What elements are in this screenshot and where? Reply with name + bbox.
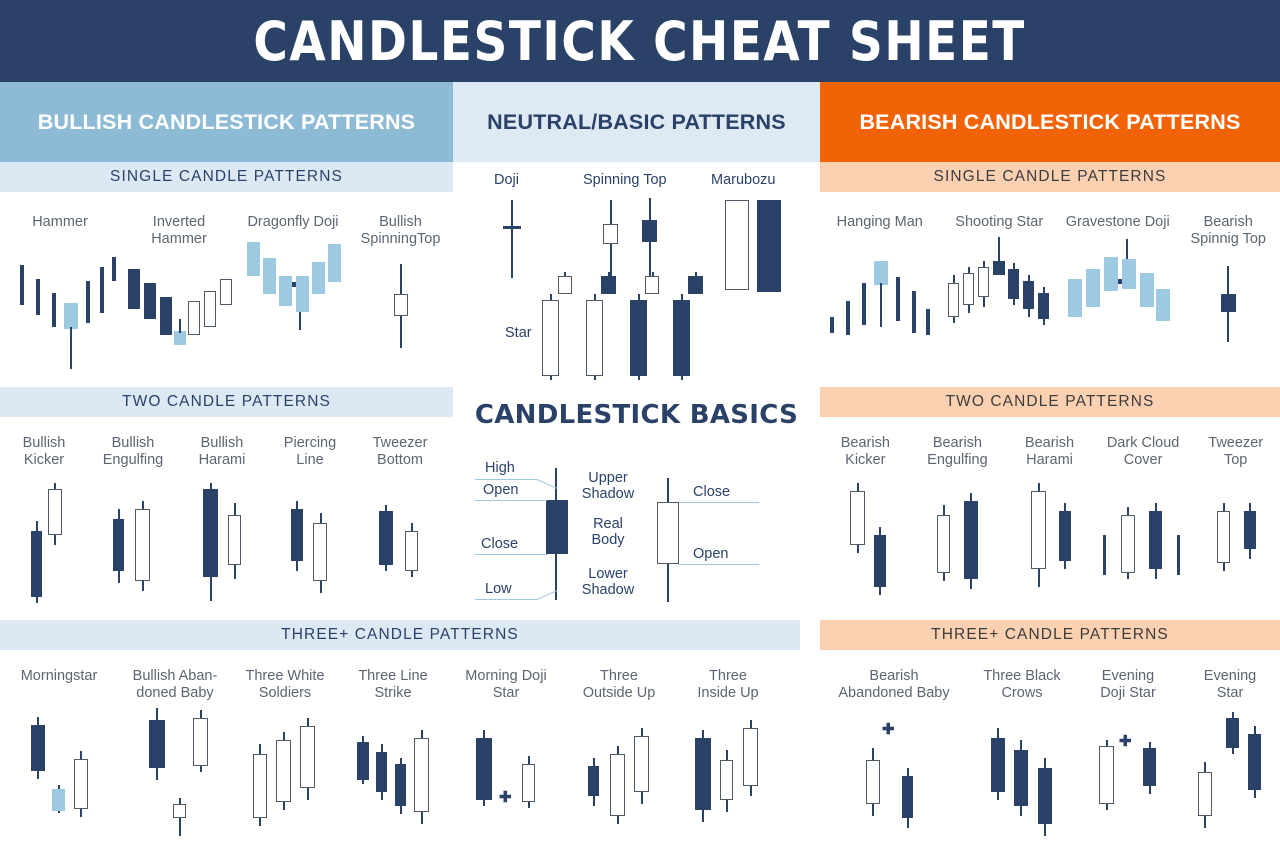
bearish-single-section-label: SINGLE CANDLE PATTERNS	[934, 168, 1167, 186]
pattern-morning-doji-star-chart: ✚	[467, 716, 545, 846]
pattern-three-white-soldiers[interactable]: Three White Soldiers	[232, 650, 338, 864]
pattern-bearish-spinning-top[interactable]: Bearish Spinnig Top	[1176, 192, 1280, 387]
bullish-single-section-label: SINGLE CANDLE PATTERNS	[110, 168, 343, 186]
pattern-morning-doji-star-label: Morning Doji Star	[465, 668, 546, 702]
pattern-gravestone-doji-chart	[1064, 235, 1172, 345]
basics-label-lower-shadow: Lower Shadow	[575, 566, 641, 598]
column-header-neutral-label: NEUTRAL/BASIC PATTERNS	[487, 110, 786, 135]
pattern-dragonfly-doji-label: Dragonfly Doji	[247, 214, 338, 231]
label-doji: Doji	[494, 172, 519, 188]
bearish-three-plus-section: THREE+ CANDLE PATTERNS Bearish Abandoned…	[820, 620, 1280, 864]
pattern-evening-doji-star-label: Evening Doji Star	[1100, 668, 1156, 702]
pattern-bullish-abandoned-baby-chart	[132, 702, 218, 842]
pattern-bearish-harami-label: Bearish Harami	[1025, 435, 1074, 469]
basics-label-low: Low	[485, 581, 512, 597]
bullish-two-section-bar: TWO CANDLE PATTERNS	[0, 387, 453, 417]
basics-label-right-open: Open	[693, 546, 728, 562]
pattern-tweezer-bottom-chart	[369, 493, 431, 613]
pattern-bearish-kicker-chart	[835, 479, 895, 619]
pattern-bullish-kicker[interactable]: Bullish Kicker	[0, 417, 88, 632]
pattern-shooting-star-chart	[944, 235, 1054, 345]
pattern-bearish-harami[interactable]: Bearish Harami	[1004, 417, 1095, 632]
pattern-three-outside-up-label: Three Outside Up	[583, 668, 656, 702]
candlestick-basics-diagram: High Open Close Low Upper Shadow Real Bo…	[453, 446, 820, 621]
pattern-tweezer-bottom[interactable]: Tweezer Bottom	[354, 417, 446, 632]
bullish-three-section-label: THREE+ CANDLE PATTERNS	[281, 626, 519, 644]
pattern-three-line-strike-chart	[351, 716, 435, 846]
pattern-three-line-strike-label: Three Line Strike	[358, 668, 427, 702]
pattern-three-line-strike[interactable]: Three Line Strike	[338, 650, 448, 864]
column-header-bullish-label: BULLISH CANDLESTICK PATTERNS	[38, 110, 415, 135]
pattern-bearish-abandoned-baby[interactable]: Bearish Abandoned Baby ✚	[820, 650, 968, 864]
guide-line-open	[475, 500, 547, 501]
pattern-morning-doji-star[interactable]: Morning Doji Star ✚	[448, 650, 564, 864]
pattern-bearish-kicker-label: Bearish Kicker	[841, 435, 890, 469]
pattern-hammer-label: Hammer	[32, 214, 88, 231]
pattern-tweezer-top-chart	[1207, 489, 1265, 609]
pattern-bearish-abandoned-baby-label: Bearish Abandoned Baby	[838, 668, 949, 702]
pattern-morningstar-chart	[16, 699, 102, 829]
title-bar: CANDLESTICK CHEAT SHEET	[0, 0, 1280, 82]
bearish-two-section-label: TWO CANDLE PATTERNS	[946, 393, 1155, 411]
evening-doji-plus-icon: ✚	[1119, 734, 1132, 749]
pattern-hammer-chart	[10, 253, 110, 373]
label-star: Star	[505, 325, 532, 341]
pattern-bullish-abandoned-baby-label: Bullish Aban- doned Baby	[133, 668, 218, 702]
bullish-three-plus-section: THREE+ CANDLE PATTERNS Morningstar Bulli…	[0, 620, 800, 864]
pattern-piercing-line-chart	[280, 489, 340, 619]
guide-line-high	[475, 479, 537, 480]
pattern-three-black-crows-label: Three Black Crows	[983, 668, 1060, 702]
pattern-dark-cloud-cover-chart	[1101, 489, 1185, 619]
pattern-bullish-spinning-top[interactable]: Bullish SpinningTop	[348, 192, 453, 387]
pattern-three-inside-up[interactable]: Three Inside Up	[674, 650, 782, 864]
guide-line-close	[475, 554, 547, 555]
pattern-bearish-spinning-top-label: Bearish Spinnig Top	[1190, 214, 1266, 248]
pattern-evening-doji-star-chart: ✚	[1089, 716, 1167, 846]
pattern-bullish-kicker-chart	[14, 479, 74, 619]
label-spinning-top: Spinning Top	[583, 172, 667, 188]
basics-label-right-close: Close	[693, 484, 730, 500]
column-header-bullish: BULLISH CANDLESTICK PATTERNS	[0, 82, 453, 162]
pattern-evening-star[interactable]: Evening Star	[1180, 650, 1280, 864]
neutral-basics-chart: Doji Spinning Top Marubozu Star	[453, 162, 820, 392]
pattern-three-outside-up[interactable]: Three Outside Up	[564, 650, 674, 864]
basics-label-upper-shadow: Upper Shadow	[575, 470, 641, 502]
pattern-bearish-kicker[interactable]: Bearish Kicker	[820, 417, 911, 632]
pattern-inverted-hammer-label: Inverted Hammer	[151, 214, 207, 248]
bullish-single-section-bar: SINGLE CANDLE PATTERNS	[0, 162, 453, 192]
page-title: CANDLESTICK CHEAT SHEET	[254, 9, 1026, 73]
bearish-two-section-bar: TWO CANDLE PATTERNS	[820, 387, 1280, 417]
basics-label-high: High	[485, 460, 515, 476]
pattern-gravestone-doji[interactable]: Gravestone Doji	[1059, 192, 1176, 387]
pattern-morningstar-label: Morningstar	[21, 668, 98, 685]
pattern-three-white-soldiers-label: Three White Soldiers	[246, 668, 325, 702]
pattern-hanging-man-chart	[826, 255, 934, 365]
pattern-tweezer-top-label: Tweezer Top	[1208, 435, 1263, 469]
pattern-hanging-man[interactable]: Hanging Man	[820, 192, 939, 387]
pattern-bullish-harami[interactable]: Bullish Harami	[178, 417, 266, 632]
guide-line-right-close	[679, 502, 759, 503]
pattern-gravestone-doji-label: Gravestone Doji	[1066, 214, 1170, 231]
column-header-bearish: BEARISH CANDLESTICK PATTERNS	[820, 82, 1280, 162]
pattern-bearish-harami-chart	[1020, 477, 1080, 617]
bearish-three-section-label: THREE+ CANDLE PATTERNS	[931, 626, 1169, 644]
pattern-bearish-engulfing-chart	[926, 487, 988, 617]
doji-plus-icon: ✚	[499, 790, 512, 805]
pattern-shooting-star[interactable]: Shooting Star	[939, 192, 1058, 387]
pattern-evening-star-label: Evening Star	[1204, 668, 1256, 702]
column-header-bearish-label: BEARISH CANDLESTICK PATTERNS	[859, 110, 1240, 135]
pattern-three-white-soldiers-chart	[245, 716, 325, 846]
pattern-bullish-harami-label: Bullish Harami	[199, 435, 246, 469]
pattern-hanging-man-label: Hanging Man	[837, 214, 923, 231]
pattern-bullish-spinning-top-chart	[376, 256, 426, 366]
bearish-three-section-bar: THREE+ CANDLE PATTERNS	[820, 620, 1280, 650]
abandoned-baby-plus-icon: ✚	[882, 722, 895, 737]
pattern-piercing-line[interactable]: Piercing Line	[266, 417, 354, 632]
basics-label-open: Open	[483, 482, 518, 498]
pattern-evening-star-chart	[1190, 710, 1270, 850]
pattern-hammer[interactable]: Hammer	[0, 192, 120, 387]
column-headers: BULLISH CANDLESTICK PATTERNS NEUTRAL/BAS…	[0, 82, 1280, 162]
pattern-bullish-engulfing-label: Bullish Engulfing	[103, 435, 163, 469]
pattern-bullish-spinning-top-label: Bullish SpinningTop	[361, 214, 441, 248]
label-marubozu: Marubozu	[711, 172, 775, 188]
pattern-three-black-crows[interactable]: Three Black Crows	[968, 650, 1076, 864]
pattern-evening-doji-star[interactable]: Evening Doji Star ✚	[1076, 650, 1180, 864]
pattern-tweezer-bottom-label: Tweezer Bottom	[373, 435, 428, 469]
pattern-dragonfly-doji-chart	[243, 236, 343, 356]
guide-line-right-open	[679, 564, 759, 565]
pattern-dragonfly-doji[interactable]: Dragonfly Doji	[238, 192, 348, 387]
pattern-bullish-kicker-label: Bullish Kicker	[23, 435, 66, 469]
pattern-bearish-spinning-top-chart	[1203, 254, 1253, 364]
bearish-single-section-bar: SINGLE CANDLE PATTERNS	[820, 162, 1280, 192]
pattern-three-black-crows-chart	[984, 716, 1060, 846]
pattern-three-inside-up-chart	[688, 716, 768, 846]
pattern-morningstar[interactable]: Morningstar	[0, 650, 118, 864]
pattern-bearish-abandoned-baby-chart: ✚	[852, 716, 936, 846]
basics-label-close: Close	[481, 536, 518, 552]
pattern-dark-cloud-cover[interactable]: Dark Cloud Cover	[1095, 417, 1192, 632]
pattern-three-inside-up-label: Three Inside Up	[697, 668, 758, 702]
pattern-bullish-engulfing-chart	[102, 491, 164, 621]
pattern-three-outside-up-chart	[579, 716, 659, 846]
pattern-shooting-star-label: Shooting Star	[955, 214, 1043, 231]
pattern-piercing-line-label: Piercing Line	[284, 435, 336, 469]
basics-label-real-body: Real Body	[575, 516, 641, 548]
column-header-neutral: NEUTRAL/BASIC PATTERNS	[453, 82, 820, 162]
guide-line-low	[475, 599, 537, 600]
bullish-three-section-bar: THREE+ CANDLE PATTERNS	[0, 620, 800, 650]
pattern-bullish-harami-chart	[192, 477, 252, 617]
pattern-bullish-abandoned-baby[interactable]: Bullish Aban- doned Baby	[118, 650, 232, 864]
pattern-bullish-engulfing[interactable]: Bullish Engulfing	[88, 417, 178, 632]
pattern-bearish-engulfing-label: Bearish Engulfing	[927, 435, 987, 469]
pattern-bearish-engulfing[interactable]: Bearish Engulfing	[911, 417, 1005, 632]
pattern-inverted-hammer[interactable]: Inverted Hammer	[120, 192, 238, 387]
pattern-inverted-hammer-chart	[124, 253, 234, 363]
pattern-tweezer-top[interactable]: Tweezer Top	[1191, 417, 1280, 632]
candlestick-basics-title: CANDLESTICK BASICS	[453, 400, 820, 430]
pattern-dark-cloud-cover-label: Dark Cloud Cover	[1107, 435, 1180, 469]
bullish-two-section-label: TWO CANDLE PATTERNS	[122, 393, 331, 411]
